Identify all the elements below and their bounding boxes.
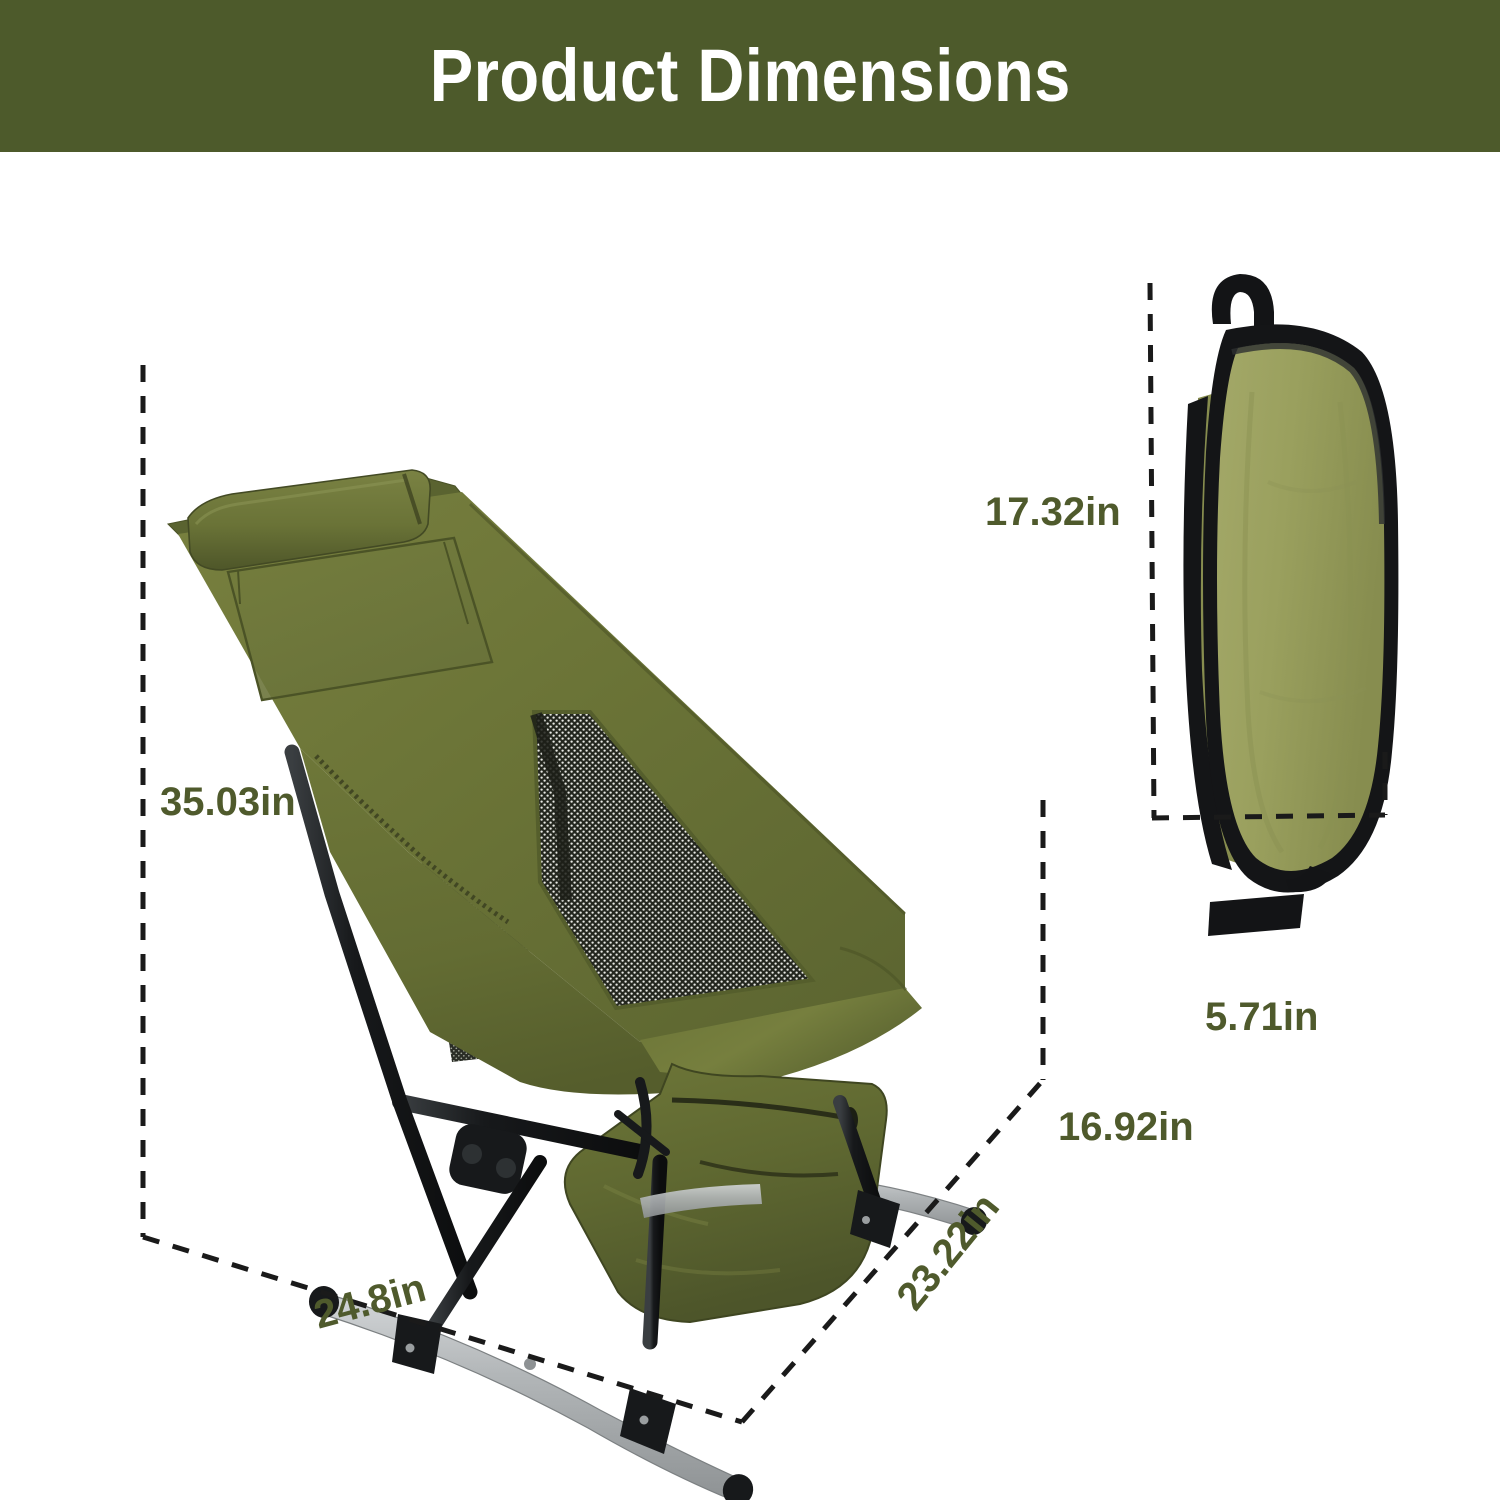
page-title: Product Dimensions [429, 39, 1070, 113]
guide-chair-width [143, 1237, 742, 1422]
guide-bag-width [1152, 815, 1385, 818]
dimension-guides [0, 152, 1500, 1500]
dimension-label-chair-height: 35.03in [160, 782, 296, 822]
product-stage: 35.03in 24.8in 23.22in 16.92in 17.32in 5… [0, 152, 1500, 1500]
header-banner: Product Dimensions [0, 0, 1500, 152]
product-dimensions-infographic: Product Dimensions [0, 0, 1500, 1500]
dimension-label-bag-height: 17.32in [985, 492, 1121, 532]
dimension-label-seat-height: 16.92in [1058, 1107, 1194, 1147]
guide-bag-height [1150, 283, 1154, 818]
guide-chair-depth [742, 1080, 1043, 1422]
dimension-label-bag-width: 5.71in [1205, 997, 1318, 1037]
